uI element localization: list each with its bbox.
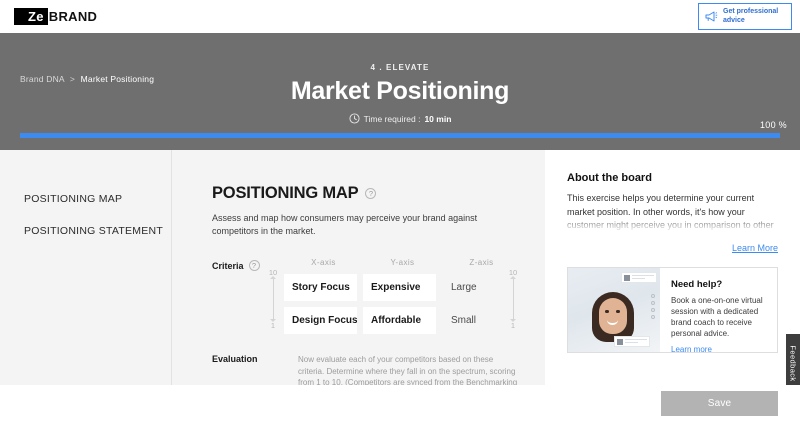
placeholder-lines [632, 275, 654, 280]
criteria-help-icon[interactable]: ? [249, 260, 260, 271]
clock-icon [349, 113, 360, 124]
cta-label-line2: advice [723, 17, 745, 24]
axis-header-z: Z-axis [442, 258, 521, 267]
video-call-controls-icon [651, 294, 655, 319]
cta-label: Get professional advice [723, 8, 778, 25]
breadcrumb-root[interactable]: Brand DNA [20, 74, 64, 84]
sidebar-item-positioning-statement[interactable]: POSITIONING STATEMENT [0, 224, 171, 239]
page-footer: Save [0, 385, 800, 424]
progress-percent-label: 100 % [760, 120, 787, 130]
criteria-row-bottom: Design Focus Affordable Small [284, 307, 515, 334]
avatar [617, 339, 623, 345]
progress-fill [20, 133, 780, 138]
need-help-card[interactable]: Need help? Book a one-on-one virtual ses… [567, 267, 778, 353]
need-help-title: Need help? [671, 279, 767, 290]
app-root: Ze BRAND Get professional advice Brand D… [0, 0, 800, 424]
evaluation-section: Evaluation Now evaluate each of your com… [212, 354, 532, 385]
time-required-value: 10 min [424, 114, 451, 124]
need-help-photo [568, 268, 660, 352]
zebrand-logo[interactable]: Ze BRAND [14, 8, 97, 25]
about-title: About the board [567, 172, 778, 184]
criteria-label: Criteria [212, 261, 244, 271]
criteria-z-bottom-input[interactable]: Small [442, 307, 515, 334]
get-professional-advice-button[interactable]: Get professional advice [698, 3, 792, 30]
criteria-x-bottom-input[interactable]: Design Focus [284, 307, 357, 334]
feedback-tab[interactable]: Feedback [786, 334, 800, 392]
avatar [624, 275, 630, 281]
criteria-row-top: Story Focus Expensive Large [284, 274, 515, 301]
evaluation-label: Evaluation [212, 354, 272, 385]
save-button[interactable]: Save [661, 391, 778, 416]
video-participant-card-bottom [614, 336, 650, 347]
axis-headers: X-axis Y-axis Z-axis [284, 258, 521, 267]
need-help-learn-more-link[interactable]: Learn more [671, 345, 712, 353]
criteria-y-top-input[interactable]: Expensive [363, 274, 436, 301]
breadcrumb: Brand DNA > Market Positioning [20, 74, 154, 84]
logo-mark: Ze [14, 8, 48, 25]
board-title-help-icon[interactable]: ? [365, 188, 376, 199]
video-participant-card-top [621, 272, 657, 283]
criteria-x-top-input[interactable]: Story Focus [284, 274, 357, 301]
scale-left-bottom: 1 [271, 321, 275, 330]
need-help-text: Need help? Book a one-on-one virtual ses… [660, 268, 777, 352]
cta-label-line1: Get professional [723, 8, 778, 15]
page-header: Brand DNA > Market Positioning 4 . ELEVA… [0, 33, 800, 150]
progress-track [20, 133, 780, 138]
breadcrumb-current: Market Positioning [81, 74, 155, 84]
evaluation-text: Now evaluate each of your competitors ba… [298, 354, 520, 385]
criteria-y-bottom-input[interactable]: Affordable [363, 307, 436, 334]
criteria-z-top-input[interactable]: Large [442, 274, 515, 301]
main-content: POSITIONING MAP ? Assess and map how con… [172, 150, 545, 385]
scale-left: 10 1 [264, 268, 282, 330]
board-title: POSITIONING MAP [212, 184, 358, 203]
main-content-inner: POSITIONING MAP ? Assess and map how con… [172, 150, 545, 271]
criteria-grid: Story Focus Expensive Large Design Focus… [284, 274, 515, 334]
board-description: Assess and map how consumers may perceiv… [212, 212, 504, 238]
criteria-section: Criteria ? X-axis Y-axis Z-axis 10 1 [212, 260, 545, 271]
sidebar-item-positioning-map[interactable]: POSITIONING MAP [0, 192, 171, 207]
need-help-body: Book a one-on-one virtual session with a… [671, 295, 767, 339]
breadcrumb-separator: > [67, 74, 78, 84]
page-body: POSITIONING MAP POSITIONING STATEMENT PO… [0, 150, 800, 424]
about-learn-more-link[interactable]: Learn More [567, 243, 778, 253]
about-panel: About the board This exercise helps you … [545, 150, 800, 424]
about-body: This exercise helps you determine your c… [567, 192, 775, 234]
time-required-label: Time required : [364, 114, 421, 124]
logo-wordmark: BRAND [48, 10, 97, 23]
section-sidebar: POSITIONING MAP POSITIONING STATEMENT [0, 150, 172, 385]
scale-left-arrow-icon [273, 279, 274, 319]
feedback-tab-label: Feedback [789, 345, 798, 381]
axis-header-y: Y-axis [363, 258, 442, 267]
sidebar-nav: POSITIONING MAP POSITIONING STATEMENT [0, 150, 171, 239]
top-bar: Ze BRAND Get professional advice [0, 0, 800, 33]
megaphone-icon [705, 11, 718, 22]
axis-header-x: X-axis [284, 258, 363, 267]
time-required: Time required : 10 min [0, 113, 800, 124]
placeholder-lines [625, 339, 647, 344]
main-title-row: POSITIONING MAP ? [212, 184, 545, 203]
step-eyebrow: 4 . ELEVATE [0, 63, 800, 72]
